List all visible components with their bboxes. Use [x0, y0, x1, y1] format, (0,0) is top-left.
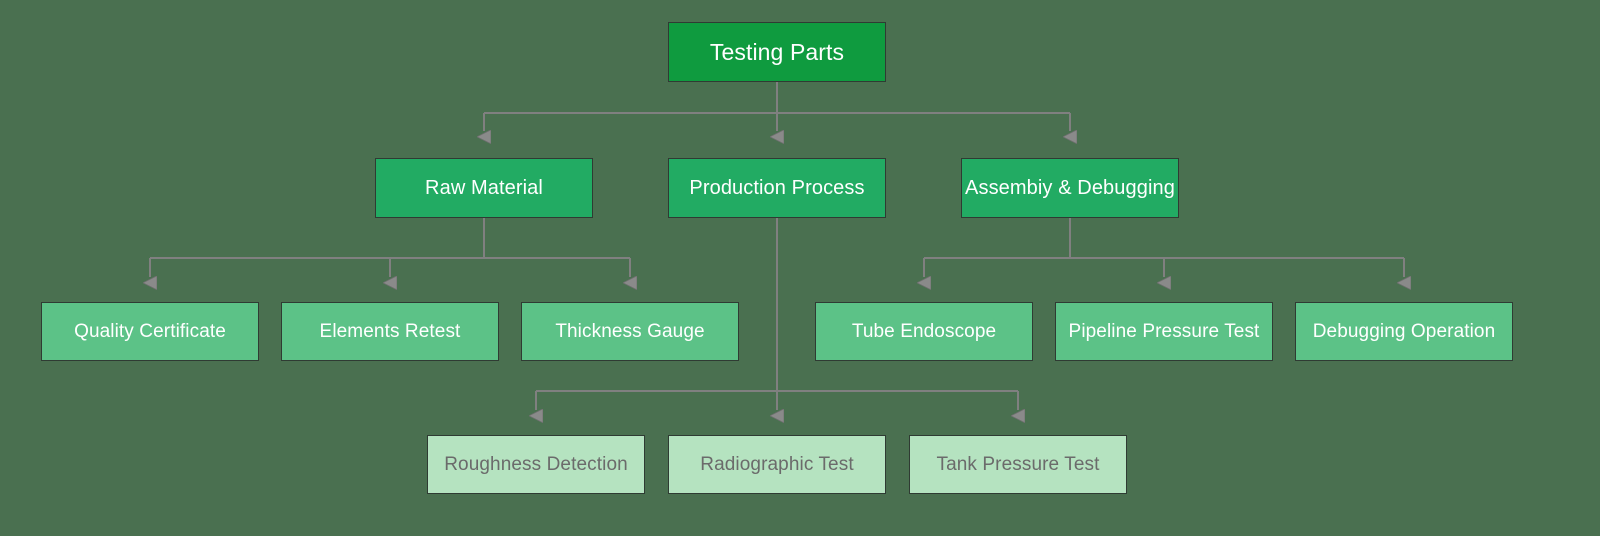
node-radiographic-test[interactable]: Radiographic Test [668, 435, 886, 494]
edge-assembly-to-children [924, 218, 1404, 277]
node-elements-retest[interactable]: Elements Retest [281, 302, 499, 361]
node-tank-pressure-test[interactable]: Tank Pressure Test [909, 435, 1127, 494]
edge-rawmaterial-to-children [150, 218, 630, 277]
node-assembly-debugging[interactable]: Assembiy & Debugging [961, 158, 1179, 218]
node-thickness-gauge[interactable]: Thickness Gauge [521, 302, 739, 361]
node-testing-parts[interactable]: Testing Parts [668, 22, 886, 82]
node-tube-endoscope[interactable]: Tube Endoscope [815, 302, 1033, 361]
edge-root-to-level1 [484, 82, 1070, 131]
node-roughness-detection[interactable]: Roughness Detection [427, 435, 645, 494]
node-quality-certificate[interactable]: Quality Certificate [41, 302, 259, 361]
node-pipeline-pressure-test[interactable]: Pipeline Pressure Test [1055, 302, 1273, 361]
flowchart-canvas: Testing Parts Raw Material Production Pr… [0, 0, 1600, 536]
node-debugging-operation[interactable]: Debugging Operation [1295, 302, 1513, 361]
node-raw-material[interactable]: Raw Material [375, 158, 593, 218]
node-production-process[interactable]: Production Process [668, 158, 886, 218]
